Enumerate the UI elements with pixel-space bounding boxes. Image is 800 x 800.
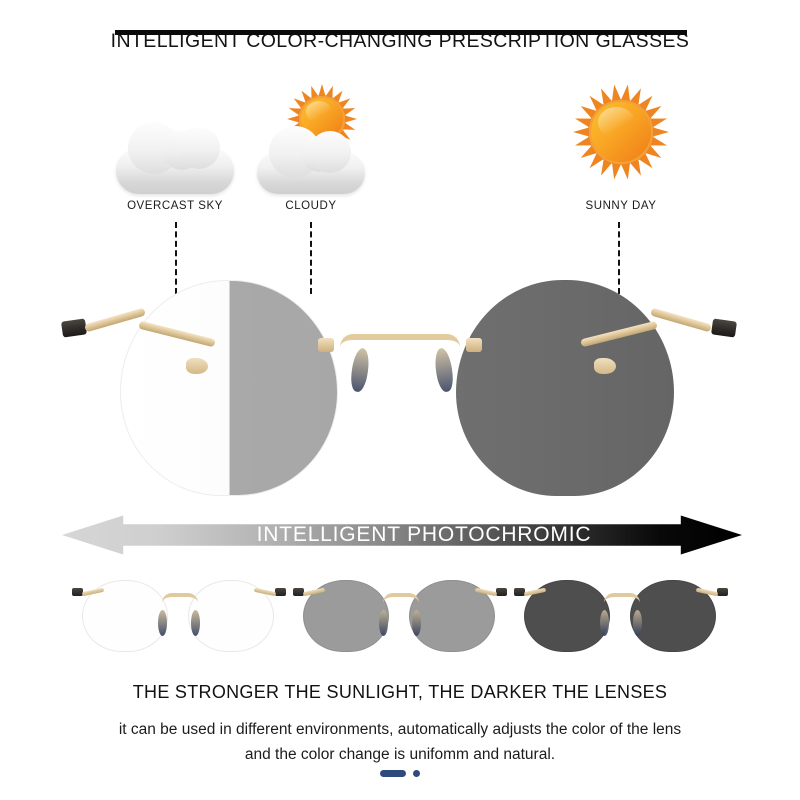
weather-item-sunny-day: SUNNY DAY [551,78,691,212]
thumb-nosepad-right [191,610,200,636]
main-glasses-illustration [0,272,800,504]
sun-ray [319,84,326,96]
carousel-dot-inactive[interactable] [413,770,420,777]
thumb-bridge [162,593,198,603]
hinge-right [711,318,737,337]
thumb-nosepad-left [379,610,388,636]
weather-item-cloudy: CLOUDY [243,78,379,212]
frame-bridge [340,334,460,347]
sun-ray [621,163,632,180]
sun-ray [574,114,592,127]
main-lens-right [456,280,674,496]
thumb-bridge [383,593,419,603]
temple-arm-right [650,308,712,333]
sun-ray [308,85,318,99]
footer-headline: THE STRONGER THE SUNLIGHT, THE DARKER TH… [0,682,800,703]
cloud-lobe [162,130,202,170]
thumb-nosepad-left [600,610,609,636]
cloud-lobe [301,136,337,172]
footer-copy-block: THE STRONGER THE SUNLIGHT, THE DARKER TH… [0,682,800,767]
footer-body: it can be used in different environments… [0,717,800,767]
thumb-bridge [604,593,640,603]
endpiece-left [318,338,334,352]
thumbnail-glasses-dark[interactable] [512,566,730,658]
sun-ray [597,86,612,104]
weather-label-cloudy: CLOUDY [243,200,379,212]
title-underline-rule [115,30,687,35]
thumbnail-glasses-clear[interactable] [70,566,288,658]
sun-ray [573,128,589,137]
thumb-nosepad-left [158,610,167,636]
footer-body-line-2: and the color change is unifomm and natu… [0,742,800,767]
sun-ray [345,116,357,123]
arrow-banner-label: INTELLIGENT PHOTOCHROMIC [62,508,742,562]
glasses-state-thumbnails [0,566,800,658]
sun-icon [571,82,671,182]
sun-ray [574,137,592,150]
weather-item-overcast-sky: OVERCAST SKY [105,95,245,212]
nose-pad-left [349,347,371,393]
sun-ray [343,105,357,115]
thumb-hinge-right [275,588,286,596]
temple-tip-left [186,358,208,374]
sun-ray [343,123,357,133]
sun-ray [610,84,621,101]
weather-label-overcast: OVERCAST SKY [105,200,245,212]
carousel-indicator[interactable] [0,770,800,777]
temple-tip-right [594,358,616,374]
sun-ray [287,116,299,123]
main-lens-left [120,280,338,496]
hinge-left [61,318,87,337]
cloudy-art [243,78,379,200]
nose-pad-right [433,347,455,393]
temple-arm-left [84,308,146,333]
infographic-page: INTELLIGENT COLOR-CHANGING PRESCRIPTION … [0,0,800,800]
cloud-icon [116,148,234,194]
thumb-nosepad-right [633,610,642,636]
carousel-dot-active[interactable] [380,770,406,777]
sunny-day-art [551,78,691,200]
sun-ray [650,137,668,150]
thumb-hinge-right [717,588,728,596]
cloud-icon-front [257,152,365,194]
sun-ray [597,159,612,177]
sun-ray [610,163,621,180]
sun-ray [653,128,669,137]
sun-ray [630,86,645,104]
sun-ray [326,85,336,99]
sun-ray [650,114,668,127]
sun-ray [288,105,302,115]
overcast-sky-art [105,95,245,200]
sun-ray [621,84,632,101]
photochromic-arrow-banner: INTELLIGENT PHOTOCHROMIC [62,508,742,562]
footer-body-line-1: it can be used in different environments… [0,717,800,742]
weather-label-sunny: SUNNY DAY [551,200,691,212]
thumb-hinge-right [496,588,507,596]
thumb-nosepad-right [412,610,421,636]
sun-ray [630,159,645,177]
endpiece-right [466,338,482,352]
thumbnail-glasses-medium[interactable] [291,566,509,658]
